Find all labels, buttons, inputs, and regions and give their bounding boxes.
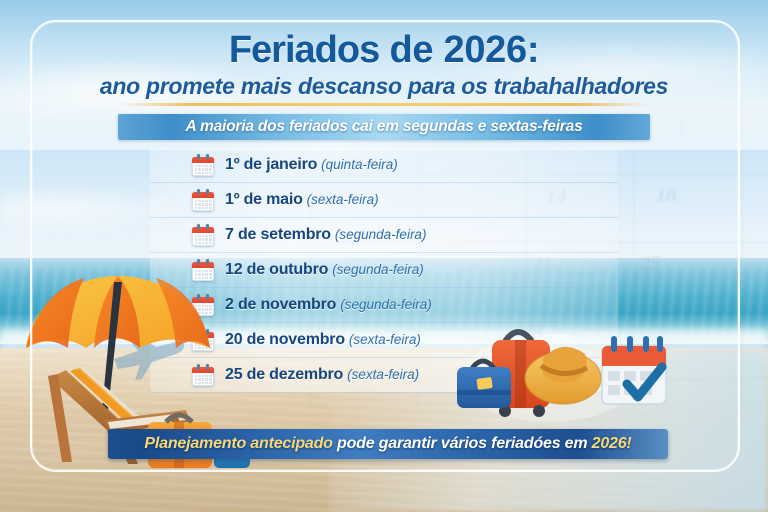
holiday-date: 1º de maio xyxy=(225,191,303,208)
holiday-weekday: (sexta-feira) xyxy=(349,332,421,347)
holiday-weekday: (quinta-feira) xyxy=(321,157,398,172)
top-banner-text: A maioria dos feriados cai em segundas e… xyxy=(186,118,583,136)
holiday-text: 1º de janeiro(quinta-feira) xyxy=(225,156,398,174)
blue-suitcase-icon xyxy=(457,361,511,408)
holiday-text: 7 de setembro(segunda-feira) xyxy=(225,226,426,244)
calendar-icon xyxy=(192,154,214,176)
bottom-banner: Planejamento antecipado pode garantir vá… xyxy=(108,429,668,459)
holiday-row: 1º de maio(sexta-feira) xyxy=(150,183,618,218)
calendar-icon xyxy=(192,224,214,246)
holiday-text: 1º de maio(sexta-feira) xyxy=(225,191,379,209)
calendar-check-icon xyxy=(602,336,666,404)
watermark-num-5: 25 xyxy=(640,252,660,275)
holiday-weekday: (segunda-feira) xyxy=(340,297,432,312)
holiday-date: 1º de janeiro xyxy=(225,156,317,173)
travel-luggage-illustration xyxy=(455,316,670,422)
holiday-weekday: (segunda-feira) xyxy=(332,262,424,277)
footer-gold-lead: Planejamento antecipado xyxy=(144,435,332,452)
holiday-weekday: (sexta-feira) xyxy=(307,192,379,207)
title-rest: de 2026: xyxy=(379,29,539,71)
holiday-row: 1º de janeiro(quinta-feira) xyxy=(150,148,618,183)
holiday-row: 7 de setembro(segunda-feira) xyxy=(150,218,618,253)
footer-gold-tail: 2026! xyxy=(592,435,632,452)
footer-white-mid: pode garantir vários feriadóes em xyxy=(333,435,592,452)
holiday-date: 7 de setembro xyxy=(225,226,331,243)
top-banner: A maioria dos feriados cai em segundas e… xyxy=(118,114,650,140)
holiday-weekday: (sexta-feira) xyxy=(347,367,419,382)
gold-divider xyxy=(118,103,650,106)
title-strong: Feriados xyxy=(229,29,379,71)
watermark-num-3: 18 xyxy=(656,184,676,207)
page-subtitle: ano promete mais descanso para os trabah… xyxy=(0,72,768,100)
calendar-icon xyxy=(192,189,214,211)
infographic-canvas: Maio Jun 7 1 14 18 21 25 28 Feriados de … xyxy=(0,0,768,512)
holiday-weekday: (segunda-feira) xyxy=(335,227,427,242)
bottom-banner-text: Planejamento antecipado pode garantir vá… xyxy=(144,435,631,453)
page-title: Feriados de 2026: xyxy=(0,28,768,72)
